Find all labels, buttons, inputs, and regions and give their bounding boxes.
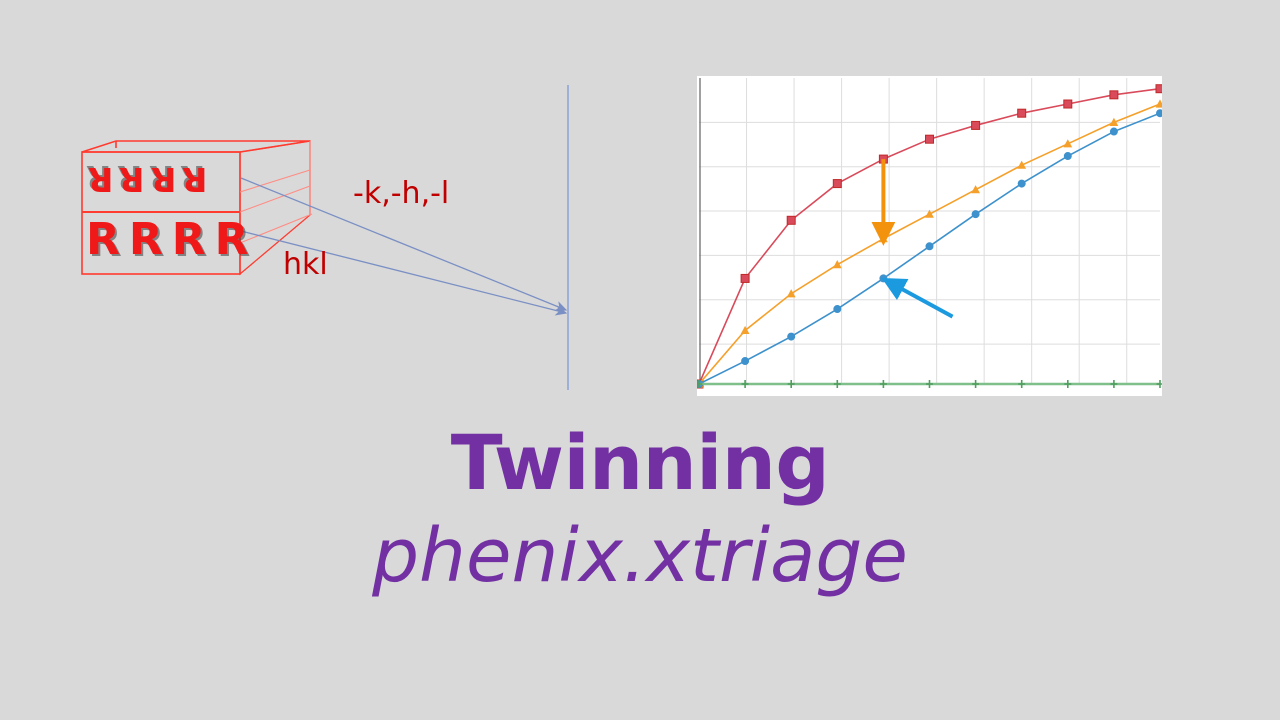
slide-canvas: R R R R R R R R -k,-h,-l hkl Twinning ph… — [0, 0, 1280, 720]
glyph-r-rotated: R — [88, 163, 113, 196]
marker-square — [787, 216, 795, 224]
marker-circle — [741, 357, 749, 365]
marker-square — [1110, 91, 1118, 99]
marker-circle — [1110, 128, 1118, 136]
marker-circle — [833, 305, 841, 313]
chart-plot-area — [697, 76, 1162, 396]
glyph-r-upright: R — [172, 218, 206, 262]
twin-domain-crystal-diagram: R R R R R R R R -k,-h,-l hkl — [0, 0, 620, 420]
chart-background — [697, 76, 1162, 396]
diagram-vector-layer — [0, 0, 620, 420]
marker-circle — [787, 333, 795, 341]
page-title: Twinning — [0, 425, 1280, 501]
marker-square — [741, 274, 749, 282]
twin-operator-label: -k,-h,-l — [353, 176, 449, 211]
marker-square — [1156, 85, 1162, 93]
glyph-r-rotated: R — [182, 163, 207, 196]
glyph-r-upright: R — [215, 218, 249, 262]
marker-circle — [926, 242, 934, 250]
twin-domain-bottom-letters: R R R R — [86, 218, 249, 262]
cumulative-intensity-chart — [697, 76, 1162, 396]
marker-square — [926, 135, 934, 143]
glyph-r-rotated: R — [119, 163, 144, 196]
page-subtitle: phenix.xtriage — [0, 519, 1280, 593]
marker-square — [833, 180, 841, 188]
marker-circle — [879, 274, 887, 282]
title-block: Twinning phenix.xtriage — [0, 425, 1280, 593]
marker-square — [1064, 100, 1072, 108]
marker-circle — [1018, 180, 1026, 188]
marker-circle — [972, 210, 980, 218]
marker-circle — [1064, 152, 1072, 160]
hkl-index-label: hkl — [283, 247, 328, 282]
glyph-r-upright: R — [86, 218, 120, 262]
twin-domain-top-letters: R R R R — [88, 163, 208, 196]
marker-square — [972, 121, 980, 129]
glyph-r-rotated: R — [151, 163, 176, 196]
marker-square — [1018, 109, 1026, 117]
glyph-r-upright: R — [129, 218, 163, 262]
